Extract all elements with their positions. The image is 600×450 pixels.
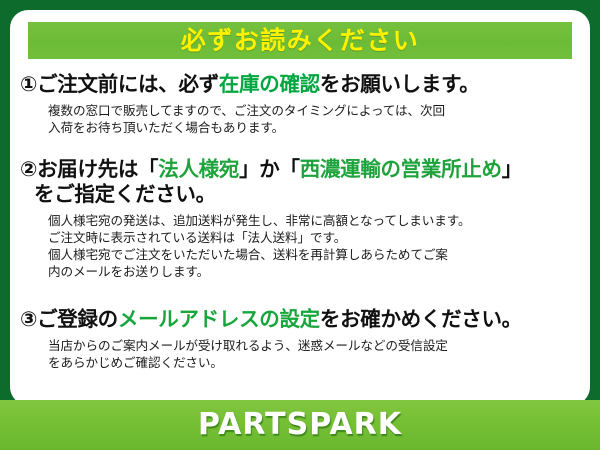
footer-bar: PARTSPARK — [0, 400, 600, 450]
notice-frame: 必ずお読みください ①ご注文前には、必ず在庫の確認をお願いします。 複数の窓口で… — [0, 0, 600, 450]
item-3-heading-part-3: をお確かめください。 — [320, 307, 522, 331]
item-3-heading-highlight: メールアドレスの設定 — [118, 307, 320, 331]
item-2-subtext-line-4: 内のメールをお送りします。 — [48, 263, 576, 280]
item-3-marker: ③ — [20, 307, 37, 331]
item-1-heading-highlight: 在庫の確認 — [219, 72, 320, 96]
notice-item-3: ③ご登録のメールアドレスの設定をお確かめください。 当店からのご案内メールが受け… — [10, 307, 590, 371]
item-2-heading-part-1: お届け先は「 — [37, 157, 158, 181]
item-2-heading-highlight-2: 西濃運輸の営業所止め — [300, 157, 502, 181]
banner-title: 必ずお読みください — [181, 28, 420, 53]
item-2-heading-part-5: 」 — [502, 157, 522, 181]
item-3-subtext-line-1: 当店からのご案内メールが受け取れるよう、迷惑メールなどの受信設定 — [48, 337, 576, 354]
notice-item-2: ②お届け先は「法人様宛」か「西濃運輸の営業所止め」 をご指定ください。 個人様宅… — [10, 157, 590, 281]
item-2-heading-part-3: 」か「 — [239, 157, 300, 181]
item-1-heading-part-1: ご注文前には、必ず — [37, 72, 219, 96]
item-2-heading-line-2: をご指定ください。 — [10, 182, 590, 207]
item-1-heading: ①ご注文前には、必ず在庫の確認をお願いします。 — [10, 72, 590, 97]
brand-logo-text: PARTSPARK — [198, 410, 402, 440]
item-1-subtext: 複数の窓口で販売してますので、ご注文のタイミングによっては、次回 入荷をお待ち頂… — [10, 102, 590, 136]
notice-header-banner: 必ずお読みください — [28, 22, 572, 59]
item-2-marker: ② — [20, 157, 37, 181]
item-3-heading-part-1: ご登録の — [37, 307, 118, 331]
item-1-heading-part-3: をお願いします。 — [320, 72, 480, 96]
item-2-subtext: 個人様宅宛の発送は、追加送料が発生し、非常に高額となってしまいます。 ご注文時に… — [10, 212, 590, 281]
notice-panel: 必ずお読みください ①ご注文前には、必ず在庫の確認をお願いします。 複数の窓口で… — [10, 10, 590, 405]
item-2-heading-highlight-1: 法人様宛 — [158, 157, 239, 181]
item-2-subtext-line-2: ご注文時に表示されている送料は「法人送料」です。 — [48, 229, 576, 246]
notice-item-1: ①ご注文前には、必ず在庫の確認をお願いします。 複数の窓口で販売してますので、ご… — [10, 72, 590, 136]
item-3-heading: ③ご登録のメールアドレスの設定をお確かめください。 — [10, 307, 590, 332]
item-2-heading: ②お届け先は「法人様宛」か「西濃運輸の営業所止め」 — [10, 157, 590, 182]
item-2-subtext-line-3: 個人様宅宛でご注文をいただいた場合、送料を再計算しあらためてご案 — [48, 246, 576, 263]
item-1-subtext-line-2: 入荷をお待ち頂いただく場合もあります。 — [48, 119, 576, 136]
item-3-subtext-line-2: をあらかじめご確認ください。 — [48, 354, 576, 371]
item-1-subtext-line-1: 複数の窓口で販売してますので、ご注文のタイミングによっては、次回 — [48, 102, 576, 119]
item-2-subtext-line-1: 個人様宅宛の発送は、追加送料が発生し、非常に高額となってしまいます。 — [48, 212, 576, 229]
item-1-marker: ① — [20, 72, 37, 96]
item-3-subtext: 当店からのご案内メールが受け取れるよう、迷惑メールなどの受信設定 をあらかじめご… — [10, 337, 590, 371]
